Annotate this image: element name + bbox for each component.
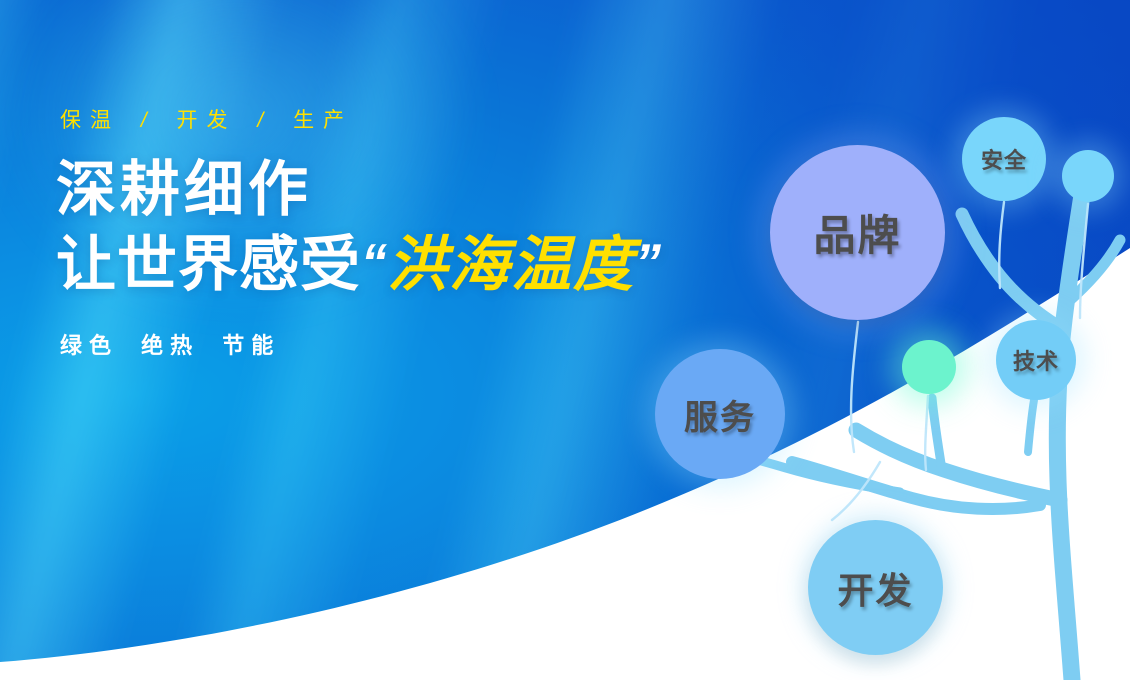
bubble-service-label: 服务 bbox=[684, 390, 756, 439]
bubble-safety[interactable]: 安全 bbox=[962, 117, 1046, 201]
subline-item-3: 节能 bbox=[222, 333, 280, 358]
promo-banner: 品牌 安全 技术 服务 开发 保温 / 开发 / 生产 深耕细作 让世界感受“洪… bbox=[0, 0, 1130, 680]
bubble-brand-label: 品牌 bbox=[813, 202, 901, 263]
bubble-blank[interactable] bbox=[1062, 150, 1114, 202]
tagline-item-2: 开发 bbox=[177, 109, 237, 132]
quote-open: “ bbox=[361, 234, 387, 292]
headline-line-1: 深耕细作 bbox=[56, 158, 776, 223]
banner-copy: 保温 / 开发 / 生产 深耕细作 让世界感受“洪海温度” 绿色 绝热 节能 bbox=[56, 104, 776, 360]
subline: 绿色 绝热 节能 bbox=[60, 328, 776, 360]
tagline-separator-1: / bbox=[135, 109, 162, 132]
tagline: 保温 / 开发 / 生产 bbox=[60, 104, 776, 134]
headline-highlight: 洪海温度 bbox=[387, 231, 635, 298]
bubble-mint[interactable] bbox=[902, 340, 956, 394]
quote-close: ” bbox=[635, 234, 661, 292]
bubble-service[interactable]: 服务 bbox=[655, 349, 785, 479]
tagline-item-1: 保温 bbox=[60, 109, 120, 132]
subline-item-2: 绝热 bbox=[141, 333, 199, 358]
tagline-item-3: 生产 bbox=[293, 109, 353, 132]
headline-plain-text: 让世界感受 bbox=[56, 231, 361, 298]
bubble-dev-label: 开发 bbox=[837, 562, 913, 614]
subline-item-1: 绿色 bbox=[60, 333, 118, 358]
tagline-separator-2: / bbox=[251, 109, 278, 132]
bubble-dev[interactable]: 开发 bbox=[808, 520, 943, 655]
headline-line-2: 让世界感受“洪海温度” bbox=[56, 233, 776, 298]
bubble-tech[interactable]: 技术 bbox=[996, 320, 1076, 400]
bubble-safety-label: 安全 bbox=[981, 143, 1027, 175]
bubble-brand[interactable]: 品牌 bbox=[770, 145, 945, 320]
bubble-tech-label: 技术 bbox=[1013, 344, 1059, 376]
